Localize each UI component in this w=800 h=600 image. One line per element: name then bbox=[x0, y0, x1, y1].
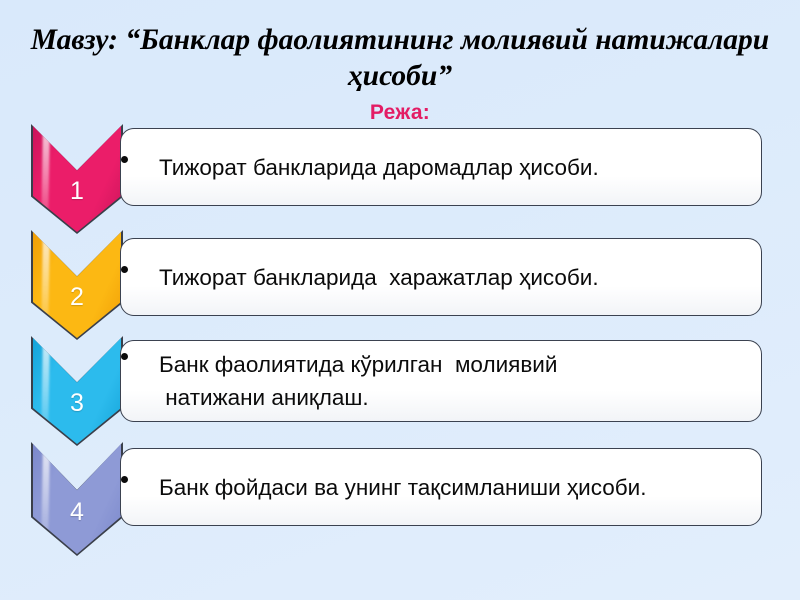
bullet-dot-icon bbox=[121, 266, 128, 273]
plan-item-line: Банк фойдаси ва унинг тақсимланиши ҳисоб… bbox=[159, 471, 646, 504]
bullet-dot-icon bbox=[121, 353, 128, 360]
chevron-highlight bbox=[41, 238, 50, 331]
chevron-step-4[interactable]: 4 bbox=[33, 444, 121, 554]
chevron-highlight bbox=[41, 451, 50, 548]
plan-item-lines: Банк фаолиятида кўрилган молиявий натижа… bbox=[137, 348, 557, 414]
title-line-1: Мавзу: “Банклар фаолиятининг молиявий на… bbox=[16, 22, 784, 58]
chevron-number: 4 bbox=[70, 500, 84, 525]
chevron-step-1[interactable]: 1 bbox=[33, 126, 121, 232]
plan-heading: Режа: bbox=[0, 101, 800, 125]
plan-item-text: Банк фаолиятида кўрилган молиявий натижа… bbox=[121, 348, 567, 414]
plan-item-box[interactable]: Тижорат банкларида даромадлар ҳисоби. bbox=[120, 128, 762, 206]
plan-item-line: Тижорат банкларида даромадлар ҳисоби. bbox=[159, 151, 599, 184]
plan-item-lines: Тижорат банкларида даромадлар ҳисоби. bbox=[137, 151, 599, 184]
plan-item-line: натижани аниқлаш. bbox=[159, 381, 557, 414]
plan-item-box[interactable]: Банк фойдаси ва унинг тақсимланиши ҳисоб… bbox=[120, 448, 762, 526]
plan-item-line: Тижорат банкларида харажатлар ҳисоби. bbox=[159, 261, 599, 294]
chevron-highlight bbox=[41, 344, 50, 437]
page-title: Мавзу: “Банклар фаолиятининг молиявий на… bbox=[16, 22, 784, 94]
chevron-number: 1 bbox=[70, 179, 84, 204]
plan-item-text: Тижорат банкларида харажатлар ҳисоби. bbox=[121, 261, 609, 294]
chevron-number: 3 bbox=[70, 391, 84, 416]
bullet-dot-icon bbox=[121, 156, 128, 163]
plan-item-line: Банк фаолиятида кўрилган молиявий bbox=[159, 348, 557, 381]
plan-item-text: Тижорат банкларида даромадлар ҳисоби. bbox=[121, 151, 609, 184]
bullet-dot-icon bbox=[121, 476, 128, 483]
plan-item-text: Банк фойдаси ва унинг тақсимланиши ҳисоб… bbox=[121, 471, 656, 504]
title-line-2: ҳисоби” bbox=[16, 58, 784, 94]
chevron-step-3[interactable]: 3 bbox=[33, 338, 121, 444]
chevron-number: 2 bbox=[70, 285, 84, 310]
plan-item-lines: Тижорат банкларида харажатлар ҳисоби. bbox=[137, 261, 599, 294]
plan-item-box[interactable]: Банк фаолиятида кўрилган молиявий натижа… bbox=[120, 340, 762, 422]
slide-canvas: Мавзу: “Банклар фаолиятининг молиявий на… bbox=[0, 0, 800, 600]
chevron-highlight bbox=[41, 132, 50, 225]
chevron-step-2[interactable]: 2 bbox=[33, 232, 121, 338]
plan-item-lines: Банк фойдаси ва унинг тақсимланиши ҳисоб… bbox=[137, 471, 646, 504]
plan-item-box[interactable]: Тижорат банкларида харажатлар ҳисоби. bbox=[120, 238, 762, 316]
